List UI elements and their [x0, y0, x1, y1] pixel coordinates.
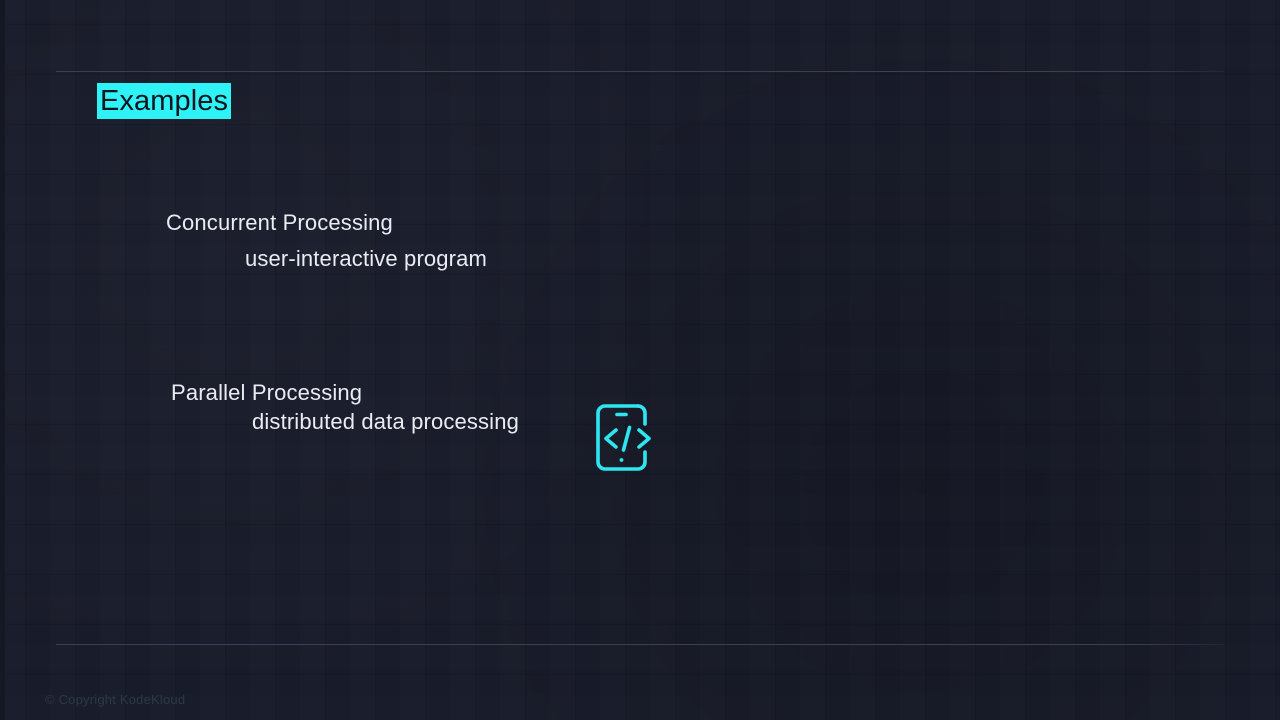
page-title-text: Examples — [97, 83, 231, 119]
example-primary-label: Parallel Processing — [171, 378, 362, 408]
footer-divider — [56, 644, 1224, 645]
left-edge-band — [0, 0, 5, 720]
page-title: Examples — [97, 83, 231, 119]
example-item-parallel: Parallel Processing distributed data pro… — [0, 371, 1280, 451]
example-secondary-label: user-interactive program — [245, 244, 487, 274]
example-item-concurrent: Concurrent Processing user-interactive p… — [0, 200, 1280, 280]
example-primary-label: Concurrent Processing — [166, 208, 393, 238]
slide-canvas: Examples Concurrent Processing user-inte… — [0, 0, 1280, 720]
footer-copyright: © Copyright KodeKloud — [45, 691, 185, 709]
example-secondary-label: distributed data processing — [252, 407, 519, 437]
header-divider — [56, 71, 1224, 72]
